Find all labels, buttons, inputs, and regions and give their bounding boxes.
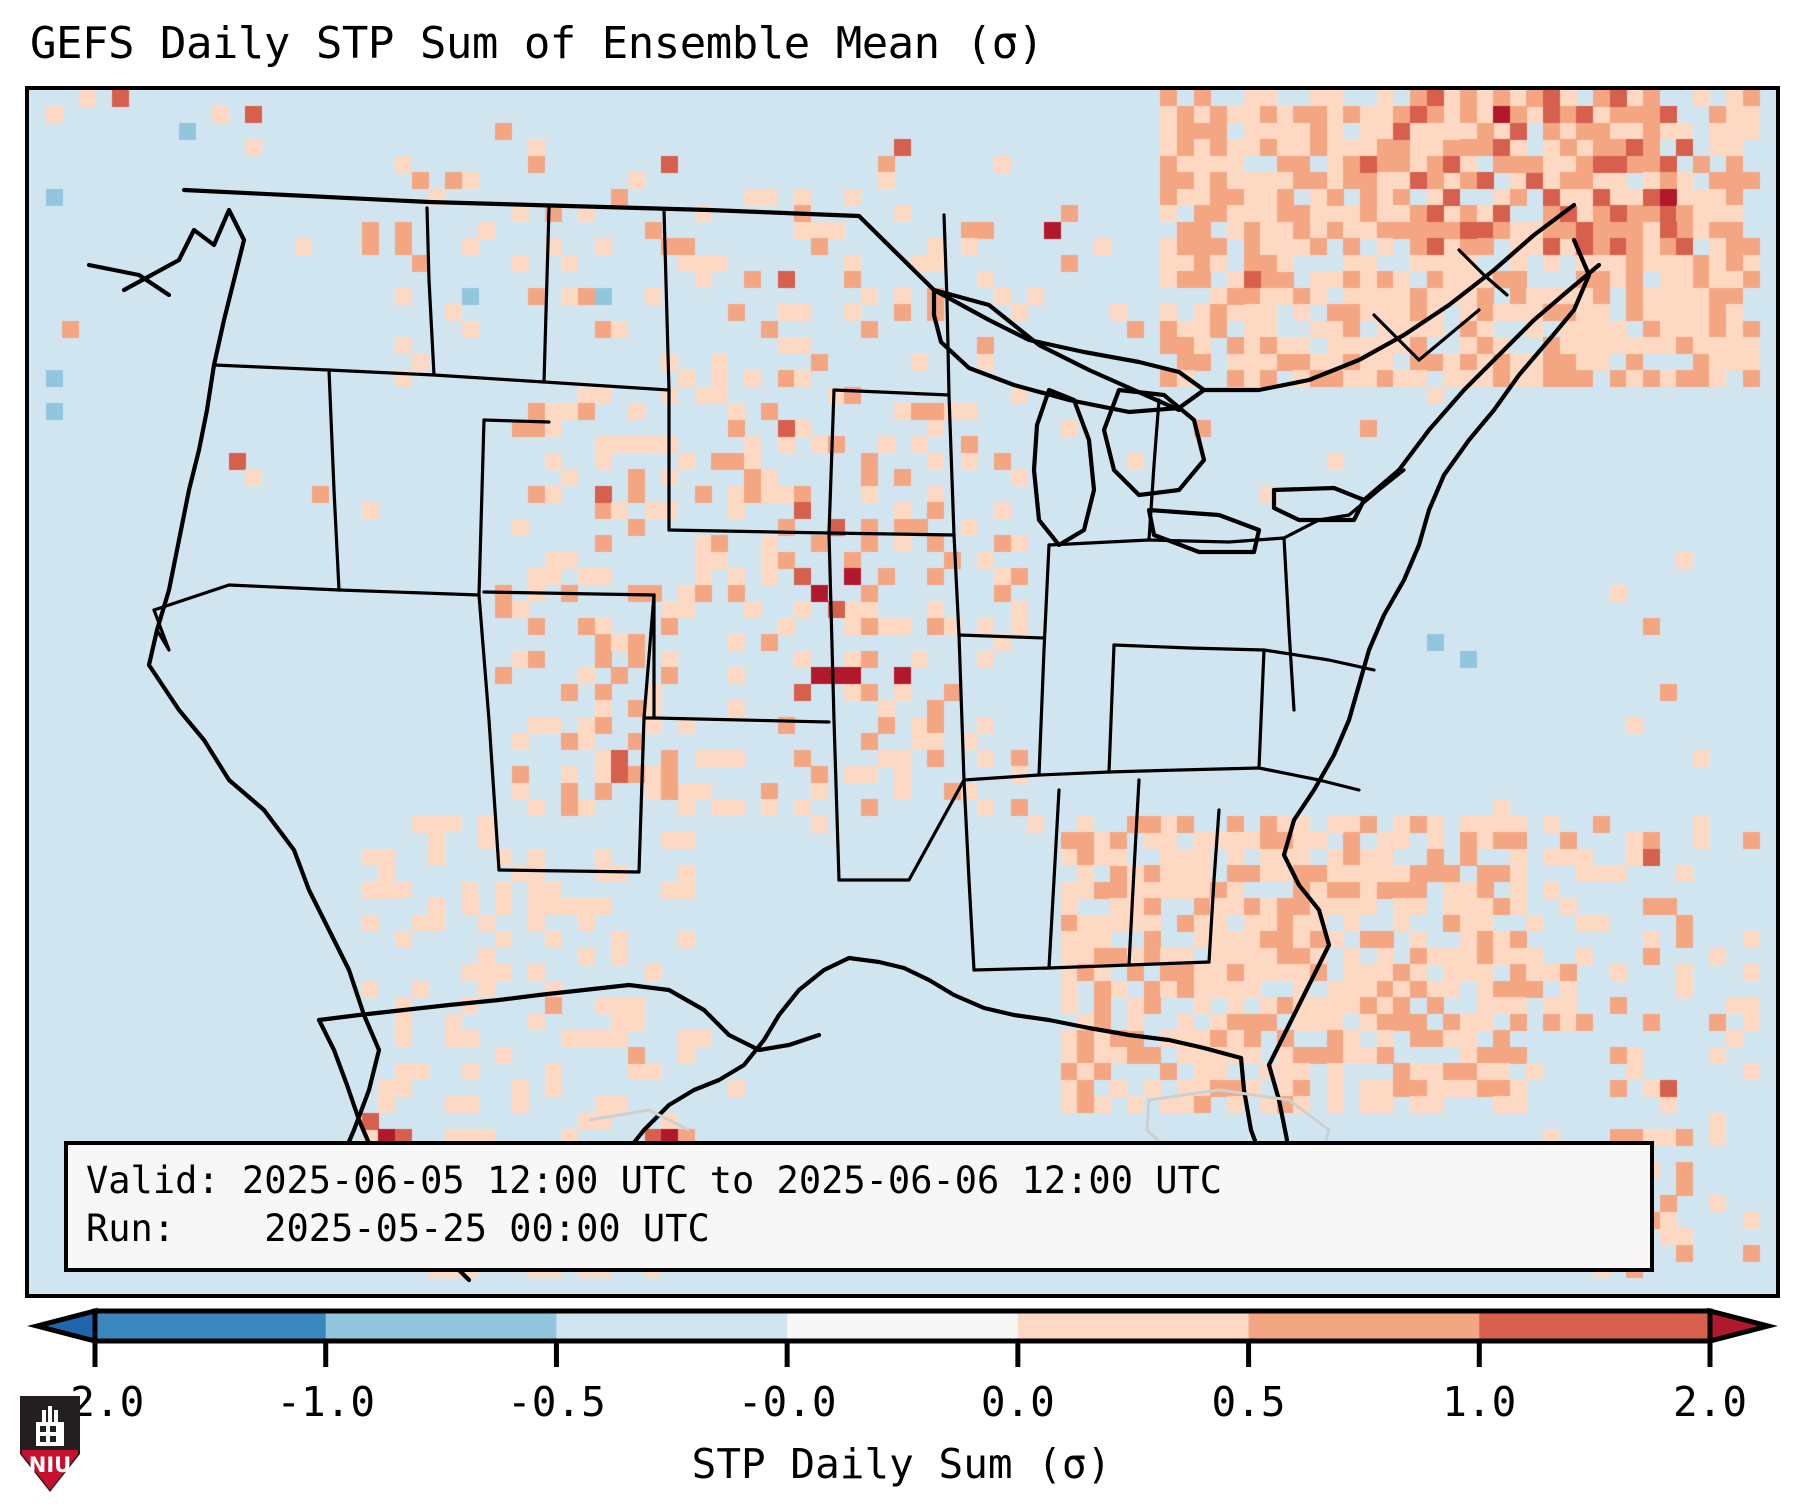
colorbar-segment	[787, 1311, 1018, 1341]
colorbar-segment	[556, 1311, 787, 1341]
map-panel: Valid: 2025-06-05 12:00 UTC to 2025-06-0…	[25, 86, 1780, 1298]
page-title: GEFS Daily STP Sum of Ensemble Mean (σ)	[30, 18, 1044, 69]
niu-logo: NIU	[14, 1392, 86, 1496]
run-time-line: Run: 2025-05-25 00:00 UTC	[86, 1205, 1632, 1252]
valid-time-line: Valid: 2025-06-05 12:00 UTC to 2025-06-0…	[86, 1157, 1632, 1204]
figure-root: GEFS Daily STP Sum of Ensemble Mean (σ)	[0, 0, 1803, 1506]
colorbar-tick-label: 1.0	[1442, 1378, 1516, 1426]
colorbar-ticks	[95, 1343, 1710, 1367]
colorbar-axis-label: STP Daily Sum (σ)	[0, 1440, 1803, 1488]
colorbar-tick-labels: -2.0-1.0-0.5-0.00.00.51.02.0	[0, 1378, 1803, 1438]
niu-logo-text: NIU	[29, 1453, 71, 1477]
colorbar-tick-label: -1.0	[276, 1378, 375, 1426]
geography-overlay	[29, 90, 1776, 1294]
colorbar-tick-label: -0.5	[507, 1378, 606, 1426]
colorbar-segment	[95, 1311, 326, 1341]
colorbar-tick-label: 2.0	[1673, 1378, 1747, 1426]
colorbar-tick-label: 0.0	[981, 1378, 1055, 1426]
colorbar-extend-low	[37, 1311, 95, 1341]
colorbar-segment	[326, 1311, 557, 1341]
colorbar	[25, 1307, 1780, 1367]
colorbar-extend-high	[1710, 1311, 1768, 1341]
colorbar-segment	[1249, 1311, 1480, 1341]
colorbar-tick-label: -0.0	[738, 1378, 837, 1426]
colorbar-segments	[37, 1311, 1768, 1341]
colorbar-segment	[1018, 1311, 1249, 1341]
colorbar-tick-label: 0.5	[1212, 1378, 1286, 1426]
info-box: Valid: 2025-06-05 12:00 UTC to 2025-06-0…	[64, 1141, 1654, 1272]
colorbar-segment	[1479, 1311, 1710, 1341]
colorbar-svg	[25, 1307, 1780, 1367]
